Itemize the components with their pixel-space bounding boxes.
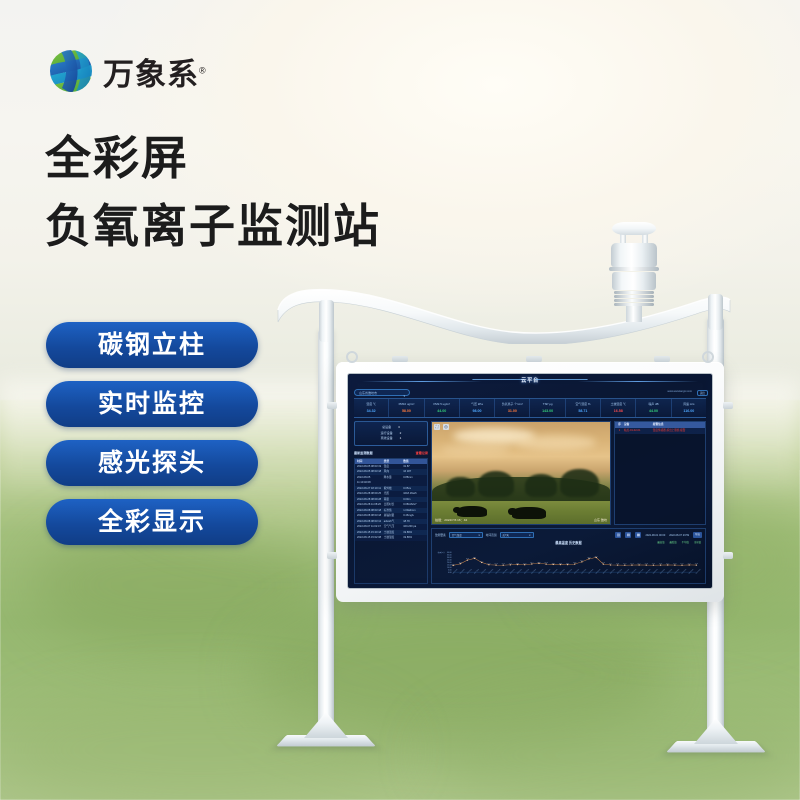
chart-point-label: 16.2	[573, 562, 576, 564]
sensor-ring	[609, 267, 659, 271]
chart-point-label: 14.0	[680, 563, 683, 565]
x-axis-tick: 08-04 00:00	[538, 569, 545, 575]
video-cloud	[517, 435, 595, 449]
headline-line-2: 负氧离子监测站	[45, 192, 381, 260]
metric-label: 空气湿度 %	[566, 402, 600, 406]
line-chart-icon[interactable]: ▤	[625, 532, 631, 538]
x-axis-tick: 08-07 06:00	[631, 569, 638, 575]
x-axis-tick: 08-06 18:00	[617, 569, 624, 575]
fullscreen-icon[interactable]: ⛶	[434, 424, 440, 430]
latest-data-table: 时间类型数值2022-08-05 08:03:19温度31.872022-08-…	[354, 458, 428, 585]
x-axis-tick: 08-04 12:00	[552, 569, 559, 575]
alarm-records-link[interactable]: 查看记录	[416, 450, 428, 455]
metric-value: 58.71	[566, 409, 600, 413]
y-axis-tick: 5.00	[448, 570, 452, 572]
latest-data-title: 最新监测数据	[354, 450, 373, 455]
x-axis-tick: 08-01 18:00	[474, 569, 481, 575]
chart-point-label: 24.2	[466, 558, 469, 560]
table-row[interactable]: 2022-08-15 15:02:08土壤湿度19.89%	[355, 535, 427, 541]
chart-factor-select[interactable]: 空气温度 ▾	[449, 532, 483, 538]
chart-point-label: 20.6	[580, 560, 583, 562]
x-axis-tick: 08-05 06:00	[574, 569, 581, 575]
x-axis-tick: 08-03 12:00	[524, 569, 531, 575]
chart-point-label: 16.8	[459, 562, 462, 564]
headline-line-1: 全彩屏	[45, 124, 381, 192]
x-axis-tick: 08-02 00:00	[481, 569, 488, 575]
exit-button[interactable]: 退出	[697, 390, 708, 396]
chart-point-label: 14.2	[673, 563, 676, 565]
legend-entry: 平均值	[682, 540, 689, 544]
metric-value: 58.00	[389, 409, 423, 413]
chevron-down-icon: ▾	[529, 533, 530, 539]
metric-value: 98.00	[460, 409, 494, 413]
mount-clip	[654, 356, 670, 362]
chart-point-label: 14.2	[616, 563, 619, 565]
x-axis-tick: 08-01 00:00	[452, 569, 459, 575]
led-display-cabinet: 云平台 山东省潍坊市 ▾ www.wanxiangxi.com 退出 温度 ℃3…	[336, 362, 724, 602]
feature-badge-2[interactable]: 实时监控	[46, 381, 258, 427]
alarm-panel: 序设备报警信息 1站点-01-02-01温度传感器 超出上限值 报警	[614, 421, 706, 525]
chart-point-label: 14.0	[652, 563, 655, 565]
x-axis-tick: 08-05 00:00	[567, 569, 574, 575]
station-select[interactable]: 山东省潍坊市 ▾	[354, 389, 410, 396]
device-stat-row: 离线设备1	[355, 436, 427, 442]
metric-cell: 负氧离子 个/cm³31.00	[495, 399, 530, 417]
history-chart-panel: 监测要素 空气温度 ▾ 时间范围 近7天 ▾	[431, 528, 706, 584]
sensor-radiation-fin	[614, 291, 654, 294]
canopy-wave-roof	[276, 282, 732, 344]
chart-point-label: 14.2	[659, 563, 662, 565]
platform-url: www.wanxiangxi.com	[667, 390, 692, 393]
table-cell: 2022-08-05 11:10:40:08	[355, 475, 384, 486]
metric-value: 116.00	[672, 409, 706, 413]
chart-toolbar: ▥ ▤ ▦ 2022-08-01 00:00 2022-08-07 23:59 …	[615, 532, 702, 538]
x-axis-tick: 08-09 06:00	[688, 569, 695, 575]
table-cell: 降水量	[384, 475, 403, 486]
chart-point-label: 14.8	[523, 563, 526, 565]
canopy-arm-right	[708, 294, 723, 330]
metric-label: 土壤温度 ℃	[601, 402, 635, 406]
video-cattle	[457, 506, 487, 517]
snapshot-icon[interactable]: ◎	[443, 424, 449, 430]
chart-point-label: 14.0	[623, 563, 626, 565]
video-tree	[446, 477, 474, 497]
chart-point-label: 19.4	[480, 561, 483, 563]
video-timestamp: 拍摄：2022/7/3 16：42	[435, 517, 467, 522]
chart-point-label: 14.4	[688, 563, 691, 565]
chart-point-label: 17.8	[537, 561, 540, 563]
right-column: ⛶ ◎ 拍摄：2022/7/3 16：42 山东 潍坊 序设备报警信息 1站点-…	[431, 421, 706, 584]
side-lug	[327, 552, 337, 559]
chart-point-label: 15.2	[516, 563, 519, 565]
chart-point-label: 14.2	[695, 563, 698, 565]
chart-point-label: 29.4	[595, 556, 598, 558]
base-plate-right	[672, 718, 760, 762]
y-axis-tick: 35.00	[447, 555, 452, 557]
table-cell: 19.89%	[403, 535, 427, 541]
support-post-left	[318, 330, 334, 730]
chart-point-label: 15.6	[552, 563, 555, 565]
x-axis-tick: 08-09 12:00	[695, 569, 701, 575]
metric-label: PM10 ug/m³	[389, 402, 423, 406]
x-axis-tick: 08-08 12:00	[667, 569, 674, 575]
alarm-empty-area	[615, 434, 705, 524]
y-axis-tick: 10.00	[447, 567, 452, 569]
chart-point-label: 14.8	[487, 563, 490, 565]
metric-cell: PM10 ug/m³58.00	[389, 399, 424, 417]
metric-value: 31.00	[495, 409, 529, 413]
video-tree	[525, 474, 557, 497]
feature-badge-list: 碳钢立柱实时监控感光探头全彩显示	[46, 322, 258, 545]
y-axis-tick: 30.00	[447, 557, 452, 559]
video-tree	[560, 469, 599, 498]
metric-cell: 温度 ℃34.32	[354, 399, 389, 417]
y-axis-tick: 0.00	[448, 572, 452, 574]
x-axis-tick: 08-08 06:00	[660, 569, 667, 575]
metric-label: 气压 kPa	[460, 402, 494, 406]
chart-point-label: 13.5	[452, 564, 455, 566]
brand-name: 万象系®	[103, 49, 207, 94]
table-row[interactable]: 2022-08-05 11:10:40:08降水量0.88mm	[355, 475, 427, 486]
x-axis-tick: 08-07 00:00	[624, 569, 631, 575]
metric-cell: 土壤温度 ℃16.58	[601, 399, 636, 417]
latest-data-header: 最新监测数据 查看记录	[354, 450, 428, 455]
x-axis-tick: 08-02 06:00	[488, 569, 495, 575]
mount-hanger	[702, 351, 714, 363]
sensor-upper-body	[611, 243, 657, 267]
x-axis-tick: 08-05 12:00	[581, 569, 588, 575]
chart-point-label: 16.4	[530, 562, 533, 564]
sensor-lower-body	[612, 272, 656, 290]
x-axis-tick: 08-07 18:00	[645, 569, 652, 575]
metric-label: 噪声 dB	[636, 402, 670, 406]
x-axis-tick: 08-02 12:00	[495, 569, 502, 575]
video-toolbar[interactable]: ⛶ ◎	[434, 424, 449, 430]
x-axis-tick: 08-09 00:00	[681, 569, 688, 575]
cloud-platform-dashboard: 云平台 山东省潍坊市 ▾ www.wanxiangxi.com 退出 温度 ℃3…	[348, 374, 712, 588]
table-icon[interactable]: ▦	[635, 532, 641, 538]
x-axis-tick: 08-04 18:00	[559, 569, 566, 575]
y-axis-tick: 25.00	[447, 560, 452, 562]
chart-factor-label: 监测要素	[435, 533, 446, 537]
export-button[interactable]: 导出	[693, 532, 702, 538]
brand-logo: 万象系®	[48, 48, 207, 94]
globe-logo-icon	[48, 48, 94, 94]
sensor-mount-stem	[626, 306, 642, 322]
ultrasonic-weather-sensor	[606, 222, 662, 318]
metric-cell: TSP μg143.00	[530, 399, 565, 417]
x-axis-tick: 08-06 06:00	[602, 569, 609, 575]
video-cloud	[441, 444, 509, 455]
x-axis-tick: 08-06 12:00	[610, 569, 617, 575]
chart-point-label: 14.4	[609, 563, 612, 565]
canopy-arm-left	[319, 300, 334, 342]
device-stats-panel: 总设备3运行设备2离线设备1	[354, 421, 428, 446]
chevron-down-icon: ▾	[478, 533, 479, 539]
sensor-radiation-fin	[614, 295, 654, 298]
metric-cell: 风速 m/s116.00	[672, 399, 706, 417]
chart-point-label: 14.4	[638, 563, 641, 565]
side-lug	[327, 402, 337, 409]
x-axis-tick: 08-03 00:00	[509, 569, 516, 575]
metric-value: 34.32	[354, 409, 388, 413]
chart-factor-value: 空气温度	[452, 534, 462, 537]
table-cell: 2022-08-15 15:02:08	[355, 535, 384, 541]
chart-range-value: 近7天	[503, 534, 509, 537]
video-alarm-row: ⛶ ◎ 拍摄：2022/7/3 16：42 山东 潍坊 序设备报警信息 1站点-…	[431, 421, 706, 525]
metric-label: 温度 ℃	[354, 402, 388, 406]
chart-point-label: 14.4	[666, 563, 669, 565]
chart-legend: 最高值最低值平均值当前值	[657, 540, 701, 544]
led-screen: 云平台 山东省潍坊市 ▾ www.wanxiangxi.com 退出 温度 ℃3…	[348, 374, 712, 588]
chart-point-label: 14.2	[645, 563, 648, 565]
legend-entry: 当前值	[694, 540, 701, 544]
station-select-value: 山东省潍坊市	[359, 391, 377, 395]
metric-value: 16.58	[601, 409, 635, 413]
chart-range-label: 时间范围	[486, 533, 497, 537]
metric-label: PM2.5 ug/m³	[425, 402, 459, 406]
chart-point-label: 15.0	[566, 563, 569, 565]
feature-badge-1[interactable]: 碳钢立柱	[46, 322, 258, 368]
legend-entry: 最高值	[657, 540, 664, 544]
table-cell: 土壤湿度	[384, 535, 403, 541]
x-axis-tick: 08-06 00:00	[595, 569, 602, 575]
base-gusset	[694, 718, 738, 744]
chart-date-to[interactable]: 2022-08-07 23:59	[669, 534, 689, 537]
video-tree	[478, 471, 514, 498]
chart-plot-area: 40.0035.0030.0025.0020.0015.0010.005.000…	[436, 550, 701, 581]
metric-value: 143.00	[530, 409, 564, 413]
y-axis-tick: 40.00	[447, 552, 452, 554]
metric-cell: 气压 kPa98.00	[460, 399, 495, 417]
chart-range-select[interactable]: 近7天 ▾	[500, 532, 534, 538]
metrics-strip: 温度 ℃34.32PM10 ug/m³58.00PM2.5 ug/m³44.00…	[354, 398, 706, 418]
metric-cell: 空气湿度 %58.71	[566, 399, 601, 417]
metric-value: 44.00	[636, 409, 670, 413]
x-axis-tick: 08-03 06:00	[517, 569, 524, 575]
left-column: 总设备3运行设备2离线设备1 最新监测数据 查看记录 时间类型数值2022-08…	[354, 421, 428, 584]
headline-block: 全彩屏 负氧离子监测站	[45, 124, 381, 260]
video-location: 山东 潍坊	[594, 517, 607, 522]
mount-hanger	[346, 351, 358, 363]
device-stat-value: 1	[400, 436, 402, 442]
metric-cell: 噪声 dB44.00	[636, 399, 671, 417]
x-axis-tick: 08-08 18:00	[674, 569, 681, 575]
product-marketing-image: 云平台 山东省潍坊市 ▾ www.wanxiangxi.com 退出 温度 ℃3…	[0, 0, 800, 800]
bar-chart-icon[interactable]: ▥	[615, 532, 621, 538]
header-rule-right	[578, 381, 698, 382]
y-axis-tick: 20.00	[447, 562, 452, 564]
chart-point-label: 14.6	[509, 563, 512, 565]
x-axis-tick: 08-01 12:00	[467, 569, 474, 575]
trademark-symbol: ®	[199, 65, 207, 75]
chart-point-label: 14.0	[502, 563, 505, 565]
side-lug	[723, 552, 733, 559]
base-gusset	[304, 712, 348, 738]
chart-point-label: 14.2	[494, 563, 497, 565]
chart-point-label: 26.8	[587, 557, 590, 559]
device-stat-label: 离线设备	[381, 436, 393, 442]
x-axis-tick: 08-05 18:00	[588, 569, 595, 575]
brand-name-text: 万象系	[103, 57, 199, 92]
x-axis-tick: 08-01 06:00	[459, 569, 466, 575]
metric-cell: PM2.5 ug/m³44.00	[425, 399, 460, 417]
feature-badge-4[interactable]: 全彩显示	[46, 499, 258, 545]
x-axis-tick: 08-07 12:00	[638, 569, 645, 575]
dashboard-header: 云平台	[348, 374, 712, 389]
table-cell: 0.88mm	[403, 475, 427, 486]
live-video-feed[interactable]: ⛶ ◎ 拍摄：2022/7/3 16：42 山东 潍坊	[431, 421, 611, 525]
chart-point-label: 16.2	[602, 562, 605, 564]
dashboard-body: 总设备3运行设备2离线设备1 最新监测数据 查看记录 时间类型数值2022-08…	[354, 421, 706, 584]
y-axis-label: 温度(℃)	[438, 551, 445, 553]
dashboard-title: 云平台	[348, 376, 712, 384]
chart-point-label: 16.2	[545, 562, 548, 564]
mount-clip	[392, 356, 408, 362]
side-lug	[723, 402, 733, 409]
chart-point-label: 14.2	[630, 563, 633, 565]
x-axis-tick: 08-08 00:00	[652, 569, 659, 575]
video-cattle	[512, 507, 546, 519]
chart-date-from[interactable]: 2022-08-01 00:00	[645, 534, 665, 537]
base-plate-left	[282, 712, 370, 756]
metric-value: 44.00	[425, 409, 459, 413]
chart-controls: 监测要素 空气温度 ▾ 时间范围 近7天 ▾	[435, 532, 702, 538]
x-axis-tick: 08-02 18:00	[502, 569, 509, 575]
sensor-dome-cap	[612, 222, 656, 235]
metric-label: TSP μg	[530, 402, 564, 406]
metric-label: 负氧离子 个/cm³	[495, 402, 529, 406]
chart-point-label: 27.6	[473, 557, 476, 559]
feature-badge-3[interactable]: 感光探头	[46, 440, 258, 486]
x-axis-tick: 08-04 06:00	[545, 569, 552, 575]
metric-label: 风速 m/s	[672, 402, 706, 406]
mount-clip	[526, 356, 542, 362]
legend-entry: 最低值	[669, 540, 676, 544]
chart-point-label: 15.2	[559, 563, 562, 565]
sensor-radiation-fin	[614, 299, 654, 302]
x-axis-tick: 08-03 18:00	[531, 569, 538, 575]
